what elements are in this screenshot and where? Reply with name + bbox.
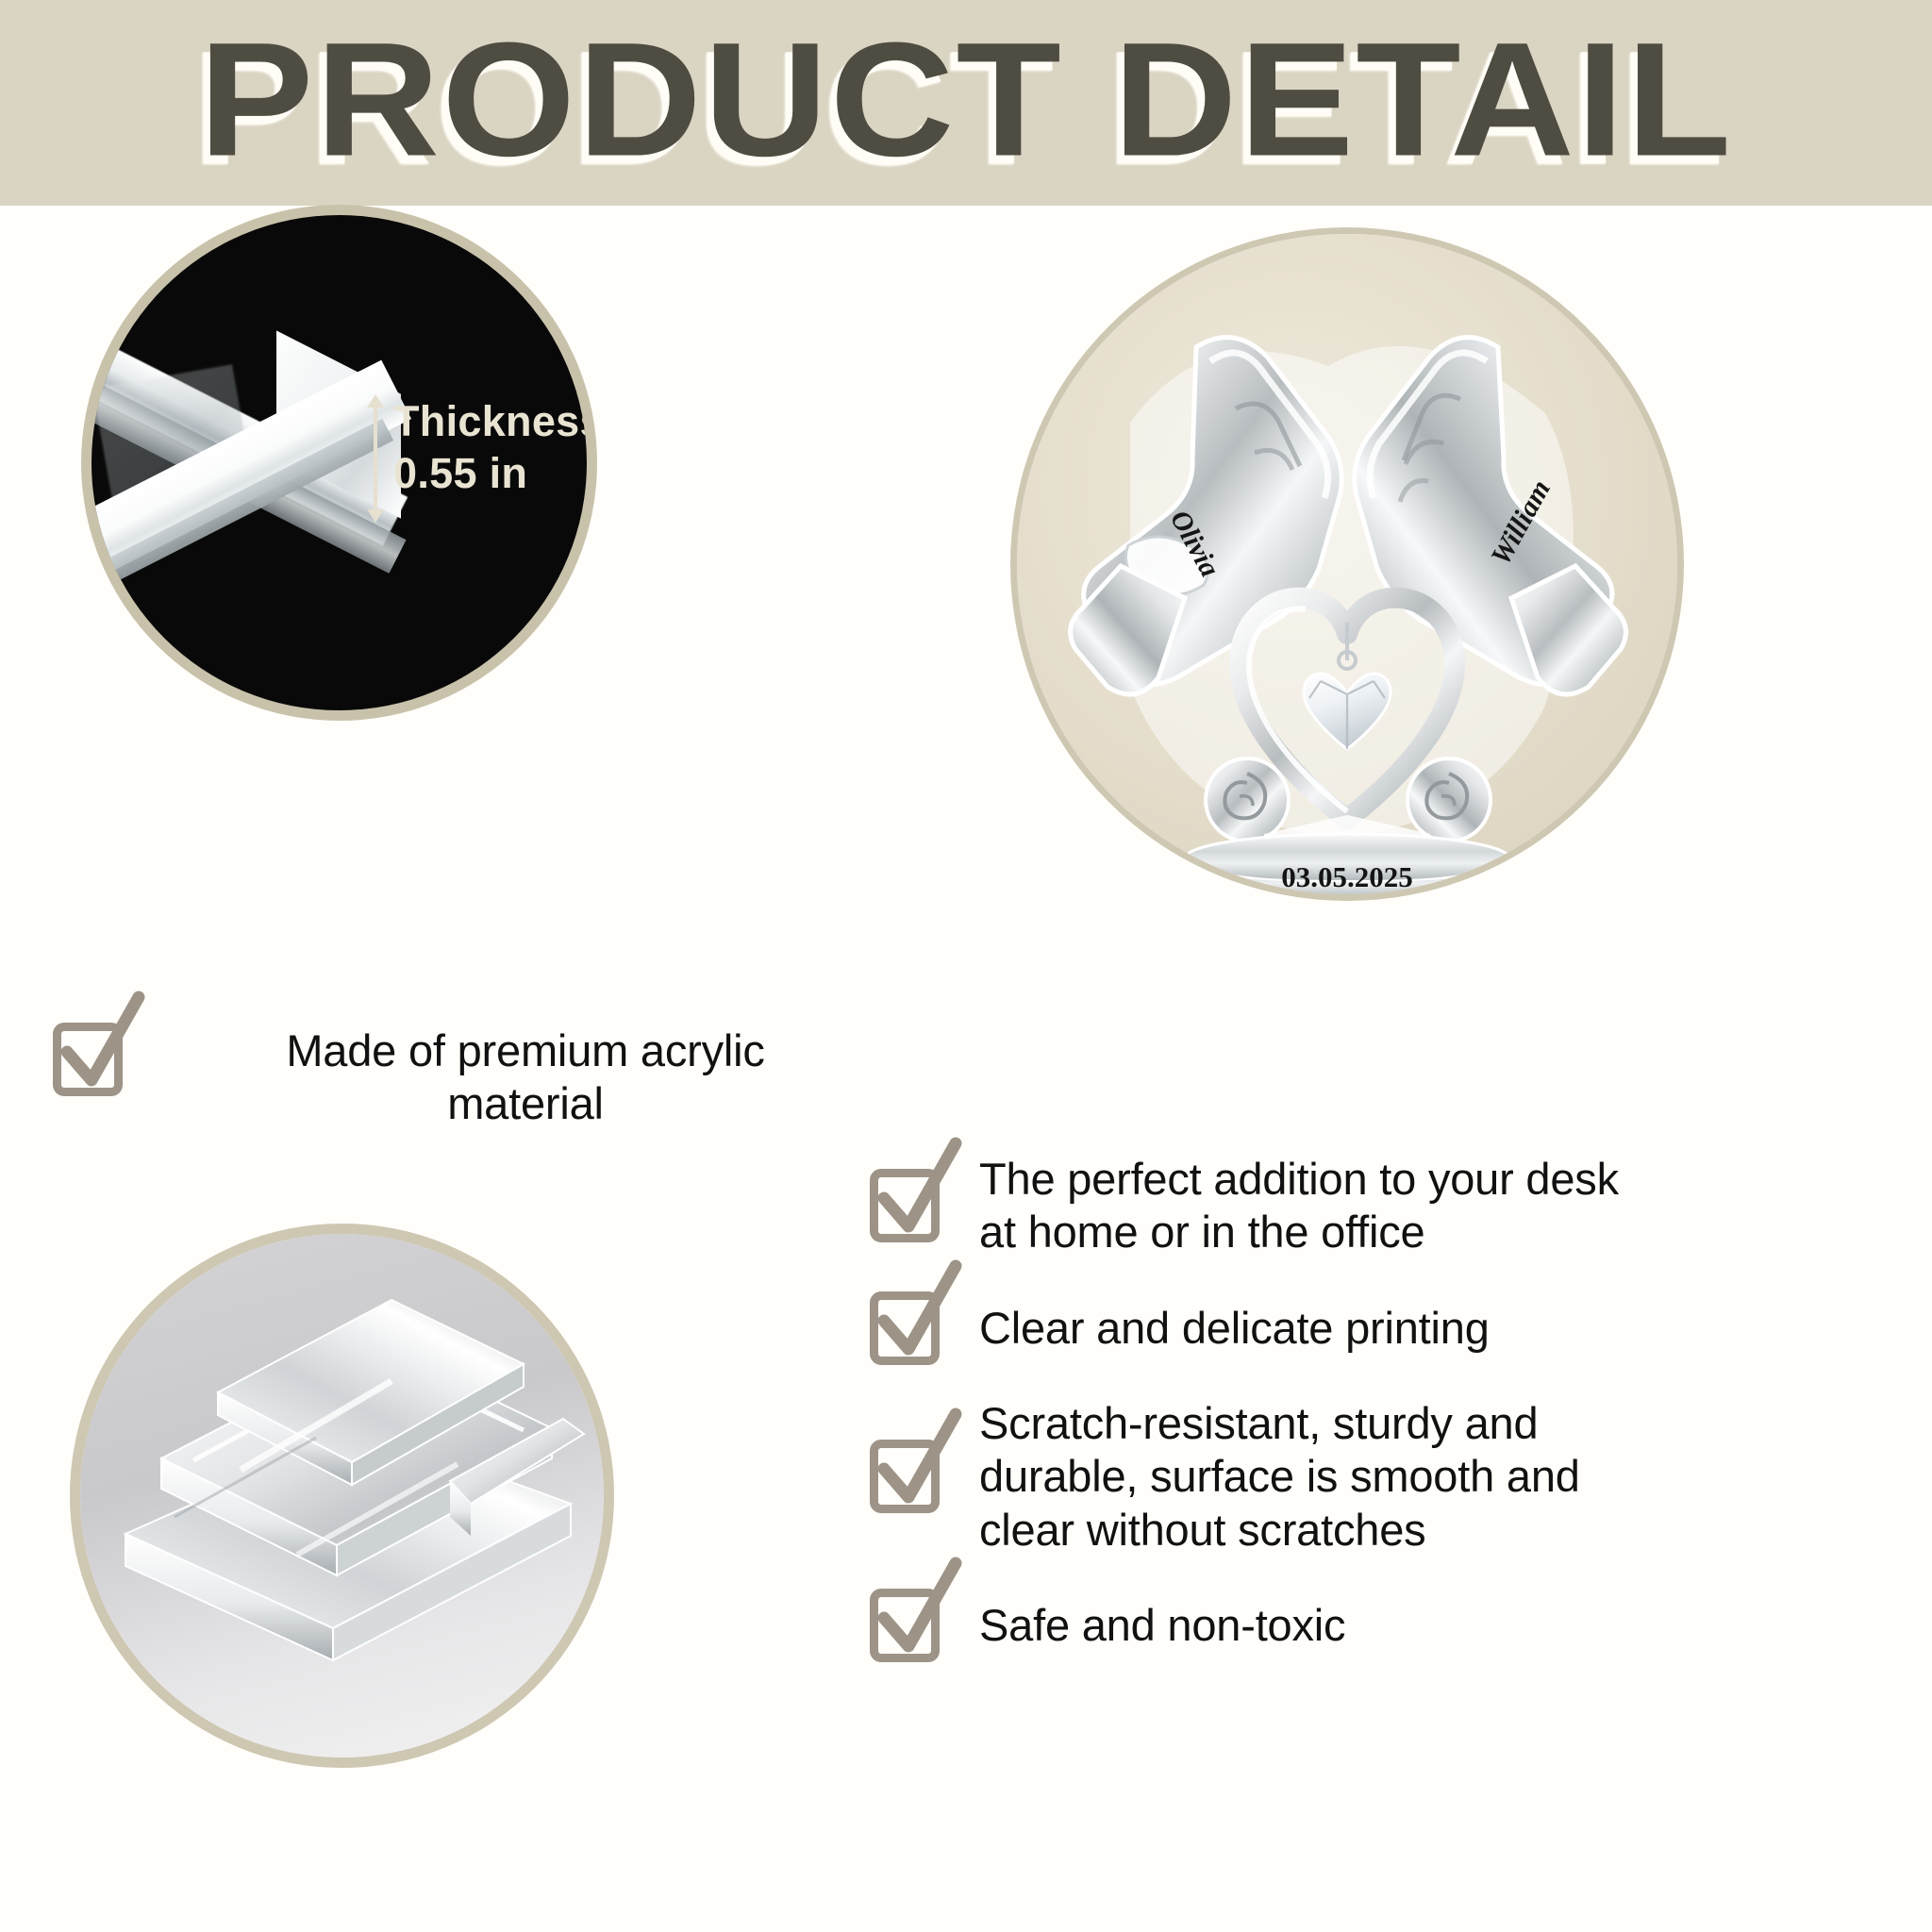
feature-text-material: Made of premium acrylic material [123, 1023, 902, 1131]
ornament-illustration: Olivia William [1017, 234, 1677, 894]
feature-safe-line1: Safe and non-toxic [979, 1599, 1345, 1652]
feature-text-scratch: Scratch-resistant, sturdy and durable, s… [940, 1397, 1580, 1557]
check-mark-glyph [58, 993, 144, 1091]
feature-desk-line1: The perfect addition to your desk [979, 1153, 1619, 1206]
thickness-callout-line1: Thickness [393, 396, 587, 448]
feature-material-line2: material [149, 1077, 902, 1130]
feature-item-print: Clear and delicate printing [870, 1291, 1917, 1365]
feature-text-print: Clear and delicate printing [940, 1302, 1490, 1355]
feature-material-line1: Made of premium acrylic [149, 1024, 902, 1077]
thickness-callout: Thickness 0.55 in [393, 396, 587, 500]
feature-item-scratch: Scratch-resistant, sturdy and durable, s… [870, 1397, 1917, 1557]
rose-left [1206, 758, 1289, 841]
check-mark-icon [53, 1023, 123, 1096]
feature-item-safe: Safe and non-toxic [870, 1589, 1917, 1662]
feature-desk-line2: at home or in the office [979, 1206, 1619, 1258]
feature-item-material: Made of premium acrylic material [53, 1023, 902, 1131]
base-plinth: 03.05.2025 [1185, 834, 1509, 894]
sheets-photo-circle [80, 1234, 604, 1757]
engraved-date: 03.05.2025 [1281, 860, 1413, 893]
feature-item-desk: The perfect addition to your desk at hom… [870, 1153, 1917, 1259]
check-mark-glyph [874, 1262, 961, 1360]
feature-text-safe: Safe and non-toxic [940, 1599, 1345, 1652]
thickness-callout-line2: 0.55 in [393, 448, 587, 500]
page-title: PRODUCT DETAIL [242, 19, 1690, 181]
thickness-photo-circle: Thickness 0.55 in [92, 215, 587, 710]
check-mark-icon [870, 1169, 940, 1242]
check-mark-glyph [874, 1559, 961, 1657]
product-detail-page: PRODUCT DETAIL Thickness 0.55 in [0, 0, 1932, 1932]
feature-scratch-line2: durable, surface is smooth and [979, 1450, 1580, 1503]
feature-print-line1: Clear and delicate printing [979, 1302, 1490, 1355]
check-mark-icon [870, 1440, 940, 1513]
product-photo-circle: Olivia William [1017, 234, 1677, 894]
check-mark-icon [870, 1291, 940, 1365]
feature-list: The perfect addition to your desk at hom… [870, 1153, 1917, 1694]
check-mark-glyph [874, 1410, 961, 1508]
header-band: PRODUCT DETAIL [0, 0, 1932, 206]
feature-scratch-line1: Scratch-resistant, sturdy and [979, 1397, 1580, 1450]
check-mark-glyph [874, 1140, 961, 1238]
feature-scratch-line3: clear without scratches [979, 1504, 1580, 1557]
acrylic-sheets-illustration [80, 1234, 604, 1757]
rose-right [1407, 758, 1491, 841]
page-title-text: PRODUCT DETAIL [199, 19, 1734, 181]
double-arrow-vertical-icon [374, 407, 377, 510]
feature-text-desk: The perfect addition to your desk at hom… [940, 1153, 1619, 1259]
check-mark-icon [870, 1589, 940, 1662]
